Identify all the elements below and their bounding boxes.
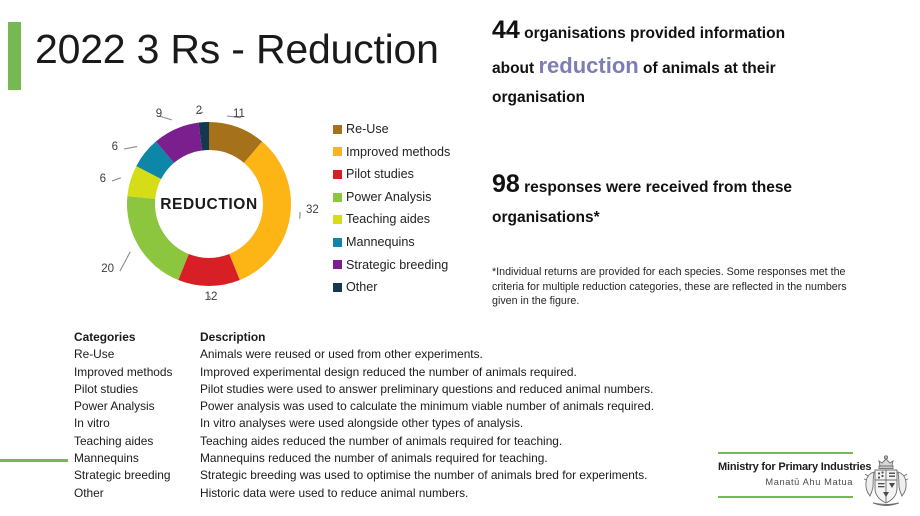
legend-item[interactable]: Mannequins: [333, 231, 478, 254]
legend-swatch-icon: [333, 125, 342, 134]
table-cell-category: Pilot studies: [74, 382, 200, 396]
donut-value-label: 6: [112, 141, 118, 153]
legend-item-label: Teaching aides: [346, 213, 430, 226]
table-cell-description: Mannequins reduced the number of animals…: [200, 451, 548, 465]
table-row: OtherHistoric data were used to reduce a…: [74, 486, 774, 503]
table-row: Re-UseAnimals were reused or used from o…: [74, 347, 774, 364]
table-cell-category: Other: [74, 486, 200, 500]
stat-line-4: 98 responses were received from these: [492, 168, 912, 204]
stat-block-organisations: 44 organisations provided information ab…: [492, 14, 902, 111]
donut-leader-line: [112, 178, 121, 181]
donut-leader-line: [124, 147, 137, 149]
donut-value-label: 9: [156, 108, 162, 120]
legend-swatch-icon: [333, 238, 342, 247]
legend-item[interactable]: Pilot studies: [333, 163, 478, 186]
donut-value-label: 20: [101, 263, 114, 275]
legend-swatch-icon: [333, 215, 342, 224]
stat-block-responses: 98 responses were received from these or…: [492, 168, 912, 232]
donut-value-label: 11: [233, 108, 245, 120]
legend-swatch-icon: [333, 147, 342, 156]
footer-accent-rule: [0, 459, 68, 462]
slide-root: 2022 3 Rs - Reduction 113212206692REDUCT…: [0, 0, 920, 516]
table-cell-category: Improved methods: [74, 365, 200, 379]
stat-text-2-prefix: about: [492, 60, 539, 77]
donut-chart-svg: 113212206692REDUCTION: [78, 96, 338, 311]
logo-rule-bottom: [718, 496, 853, 498]
nz-coat-of-arms-icon: [861, 454, 911, 510]
legend-swatch-icon: [333, 193, 342, 202]
legend-item-label: Other: [346, 281, 378, 294]
chart-legend: Re-UseImproved methodsPilot studiesPower…: [333, 118, 478, 299]
page-title: 2022 3 Rs - Reduction: [35, 26, 439, 73]
stat-text-1: organisations provided information: [520, 25, 785, 42]
table-header-row: Categories Description: [74, 330, 774, 347]
legend-item-label: Improved methods: [346, 146, 450, 159]
highlight-reduction: reduction: [539, 53, 639, 78]
table-body: Re-UseAnimals were reused or used from o…: [74, 347, 774, 503]
table-cell-description: In vitro analyses were used alongside ot…: [200, 416, 523, 430]
donut-segment[interactable]: [178, 254, 240, 286]
legend-item[interactable]: Teaching aides: [333, 208, 478, 231]
stat-line-2: about reduction of animals at their: [492, 50, 902, 85]
logo-line-1: Ministry for Primary Industries: [718, 461, 871, 473]
table-cell-description: Historic data were used to reduce animal…: [200, 486, 468, 500]
table-cell-description: Pilot studies were used to answer prelim…: [200, 382, 653, 396]
table-header-categories: Categories: [74, 330, 200, 344]
legend-swatch-icon: [333, 170, 342, 179]
table-cell-description: Improved experimental design reduced the…: [200, 365, 577, 379]
legend-item-label: Strategic breeding: [346, 259, 448, 272]
table-cell-category: Re-Use: [74, 347, 200, 361]
table-cell-category: Teaching aides: [74, 434, 200, 448]
legend-swatch-icon: [333, 260, 342, 269]
donut-value-label: 32: [306, 204, 319, 216]
legend-item[interactable]: Improved methods: [333, 141, 478, 164]
donut-value-label: 6: [100, 173, 106, 185]
legend-item[interactable]: Other: [333, 276, 478, 299]
stat-text-2-suffix: of animals at their: [639, 60, 776, 77]
stat-line-5: organisations*: [492, 204, 912, 232]
legend-item-label: Power Analysis: [346, 191, 431, 204]
stat-number-44: 44: [492, 16, 520, 44]
mpi-logo: Ministry for Primary Industries Manatū A…: [718, 452, 914, 512]
table-cell-category: Mannequins: [74, 451, 200, 465]
legend-item[interactable]: Re-Use: [333, 118, 478, 141]
footnote-text: *Individual returns are provided for eac…: [492, 265, 852, 309]
table-cell-description: Animals were reused or used from other e…: [200, 347, 483, 361]
stat-number-98: 98: [492, 170, 520, 198]
donut-chart: 113212206692REDUCTION: [78, 96, 338, 311]
table-row: Teaching aidesTeaching aides reduced the…: [74, 434, 774, 451]
categories-table: Categories Description Re-UseAnimals wer…: [74, 330, 774, 503]
table-row: Pilot studiesPilot studies were used to …: [74, 382, 774, 399]
legend-item[interactable]: Power Analysis: [333, 186, 478, 209]
table-cell-description: Strategic breeding was used to optimise …: [200, 468, 647, 482]
table-cell-description: Teaching aides reduced the number of ani…: [200, 434, 562, 448]
donut-leader-line: [120, 252, 130, 271]
legend-item-label: Mannequins: [346, 236, 415, 249]
donut-center-label: REDUCTION: [160, 196, 258, 213]
logo-rule-top: [718, 452, 853, 454]
donut-value-label: 2: [196, 105, 202, 117]
table-cell-category: Power Analysis: [74, 399, 200, 413]
table-row: MannequinsMannequins reduced the number …: [74, 451, 774, 468]
table-row: Power AnalysisPower analysis was used to…: [74, 399, 774, 416]
table-cell-category: In vitro: [74, 416, 200, 430]
table-cell-category: Strategic breeding: [74, 468, 200, 482]
table-row: In vitroIn vitro analyses were used alon…: [74, 416, 774, 433]
table-header-description: Description: [200, 330, 265, 344]
logo-line-2: Manatū Ahu Matua: [718, 477, 853, 487]
table-row: Improved methodsImproved experimental de…: [74, 365, 774, 382]
table-row: Strategic breedingStrategic breeding was…: [74, 468, 774, 485]
donut-value-label: 12: [205, 291, 218, 303]
table-cell-description: Power analysis was used to calculate the…: [200, 399, 654, 413]
legend-swatch-icon: [333, 283, 342, 292]
legend-item-label: Re-Use: [346, 123, 389, 136]
title-accent-bar: [8, 22, 21, 90]
legend-item-label: Pilot studies: [346, 168, 414, 181]
stat-line-1: 44 organisations provided information: [492, 14, 902, 50]
legend-item[interactable]: Strategic breeding: [333, 254, 478, 277]
stat-line-3: organisation: [492, 85, 902, 111]
stat-text-3: responses were received from these: [520, 179, 792, 196]
